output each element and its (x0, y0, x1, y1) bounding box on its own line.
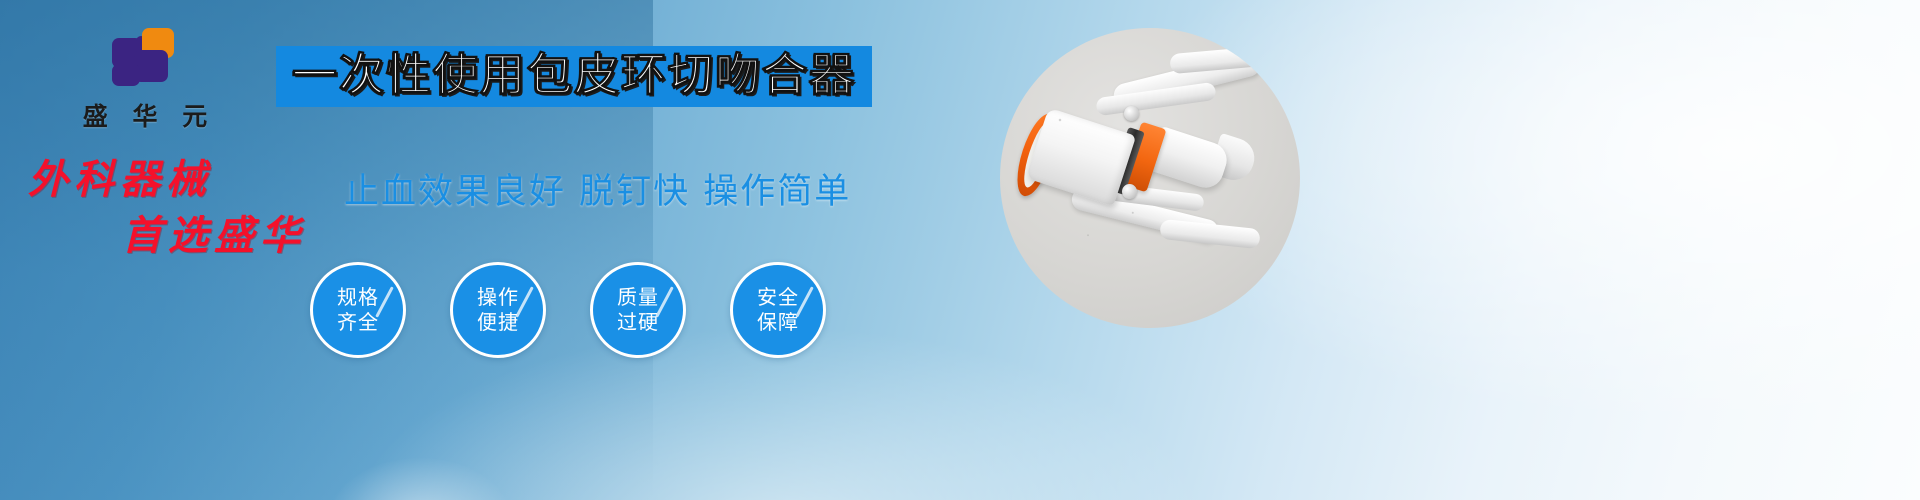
badge-label-line1: 安全 (757, 285, 799, 310)
badge-label-line2: 便捷 (477, 310, 519, 335)
badge-label-line1: 规格 (337, 285, 379, 310)
calligraphy-line-1: 外科器械 (22, 152, 306, 208)
logo-square-purple-bottom (112, 64, 140, 86)
feature-badge[interactable]: 安全 保障 (730, 262, 826, 358)
brand-logo: 盛 华 元 (64, 28, 234, 133)
calligraphy-slogan: 外科器械 首选盛华 (22, 152, 306, 264)
subtitle-text: 止血效果良好 脱钉快 操作简单 (344, 163, 851, 214)
main-title-bar: 一次性使用包皮环切吻合器 (276, 46, 872, 107)
badge-label-line2: 保障 (757, 310, 799, 335)
company-name: 盛 华 元 (64, 97, 234, 133)
badge-label-line2: 齐全 (337, 310, 379, 335)
calligraphy-line-2: 首选盛华 (22, 208, 306, 264)
badge-label-line1: 操作 (477, 285, 519, 310)
feature-badge[interactable]: 操作 便捷 (450, 262, 546, 358)
promo-banner: 盛 华 元 一次性使用包皮环切吻合器 外科器械 首选盛华 止血效果良好 脱钉快 … (0, 0, 1920, 500)
feature-badge[interactable]: 规格 齐全 (310, 262, 406, 358)
badge-label-line2: 过硬 (617, 310, 659, 335)
badge-label-line1: 质量 (617, 285, 659, 310)
feature-badge-list: 规格 齐全 操作 便捷 质量 过硬 安全 保障 (310, 262, 826, 358)
feature-badge[interactable]: 质量 过硬 (590, 262, 686, 358)
main-title-text: 一次性使用包皮环切吻合器 (292, 52, 856, 97)
product-photo (1000, 28, 1300, 328)
product-backdrop-specks (1046, 88, 1186, 248)
logo-mark-icon (112, 28, 186, 90)
